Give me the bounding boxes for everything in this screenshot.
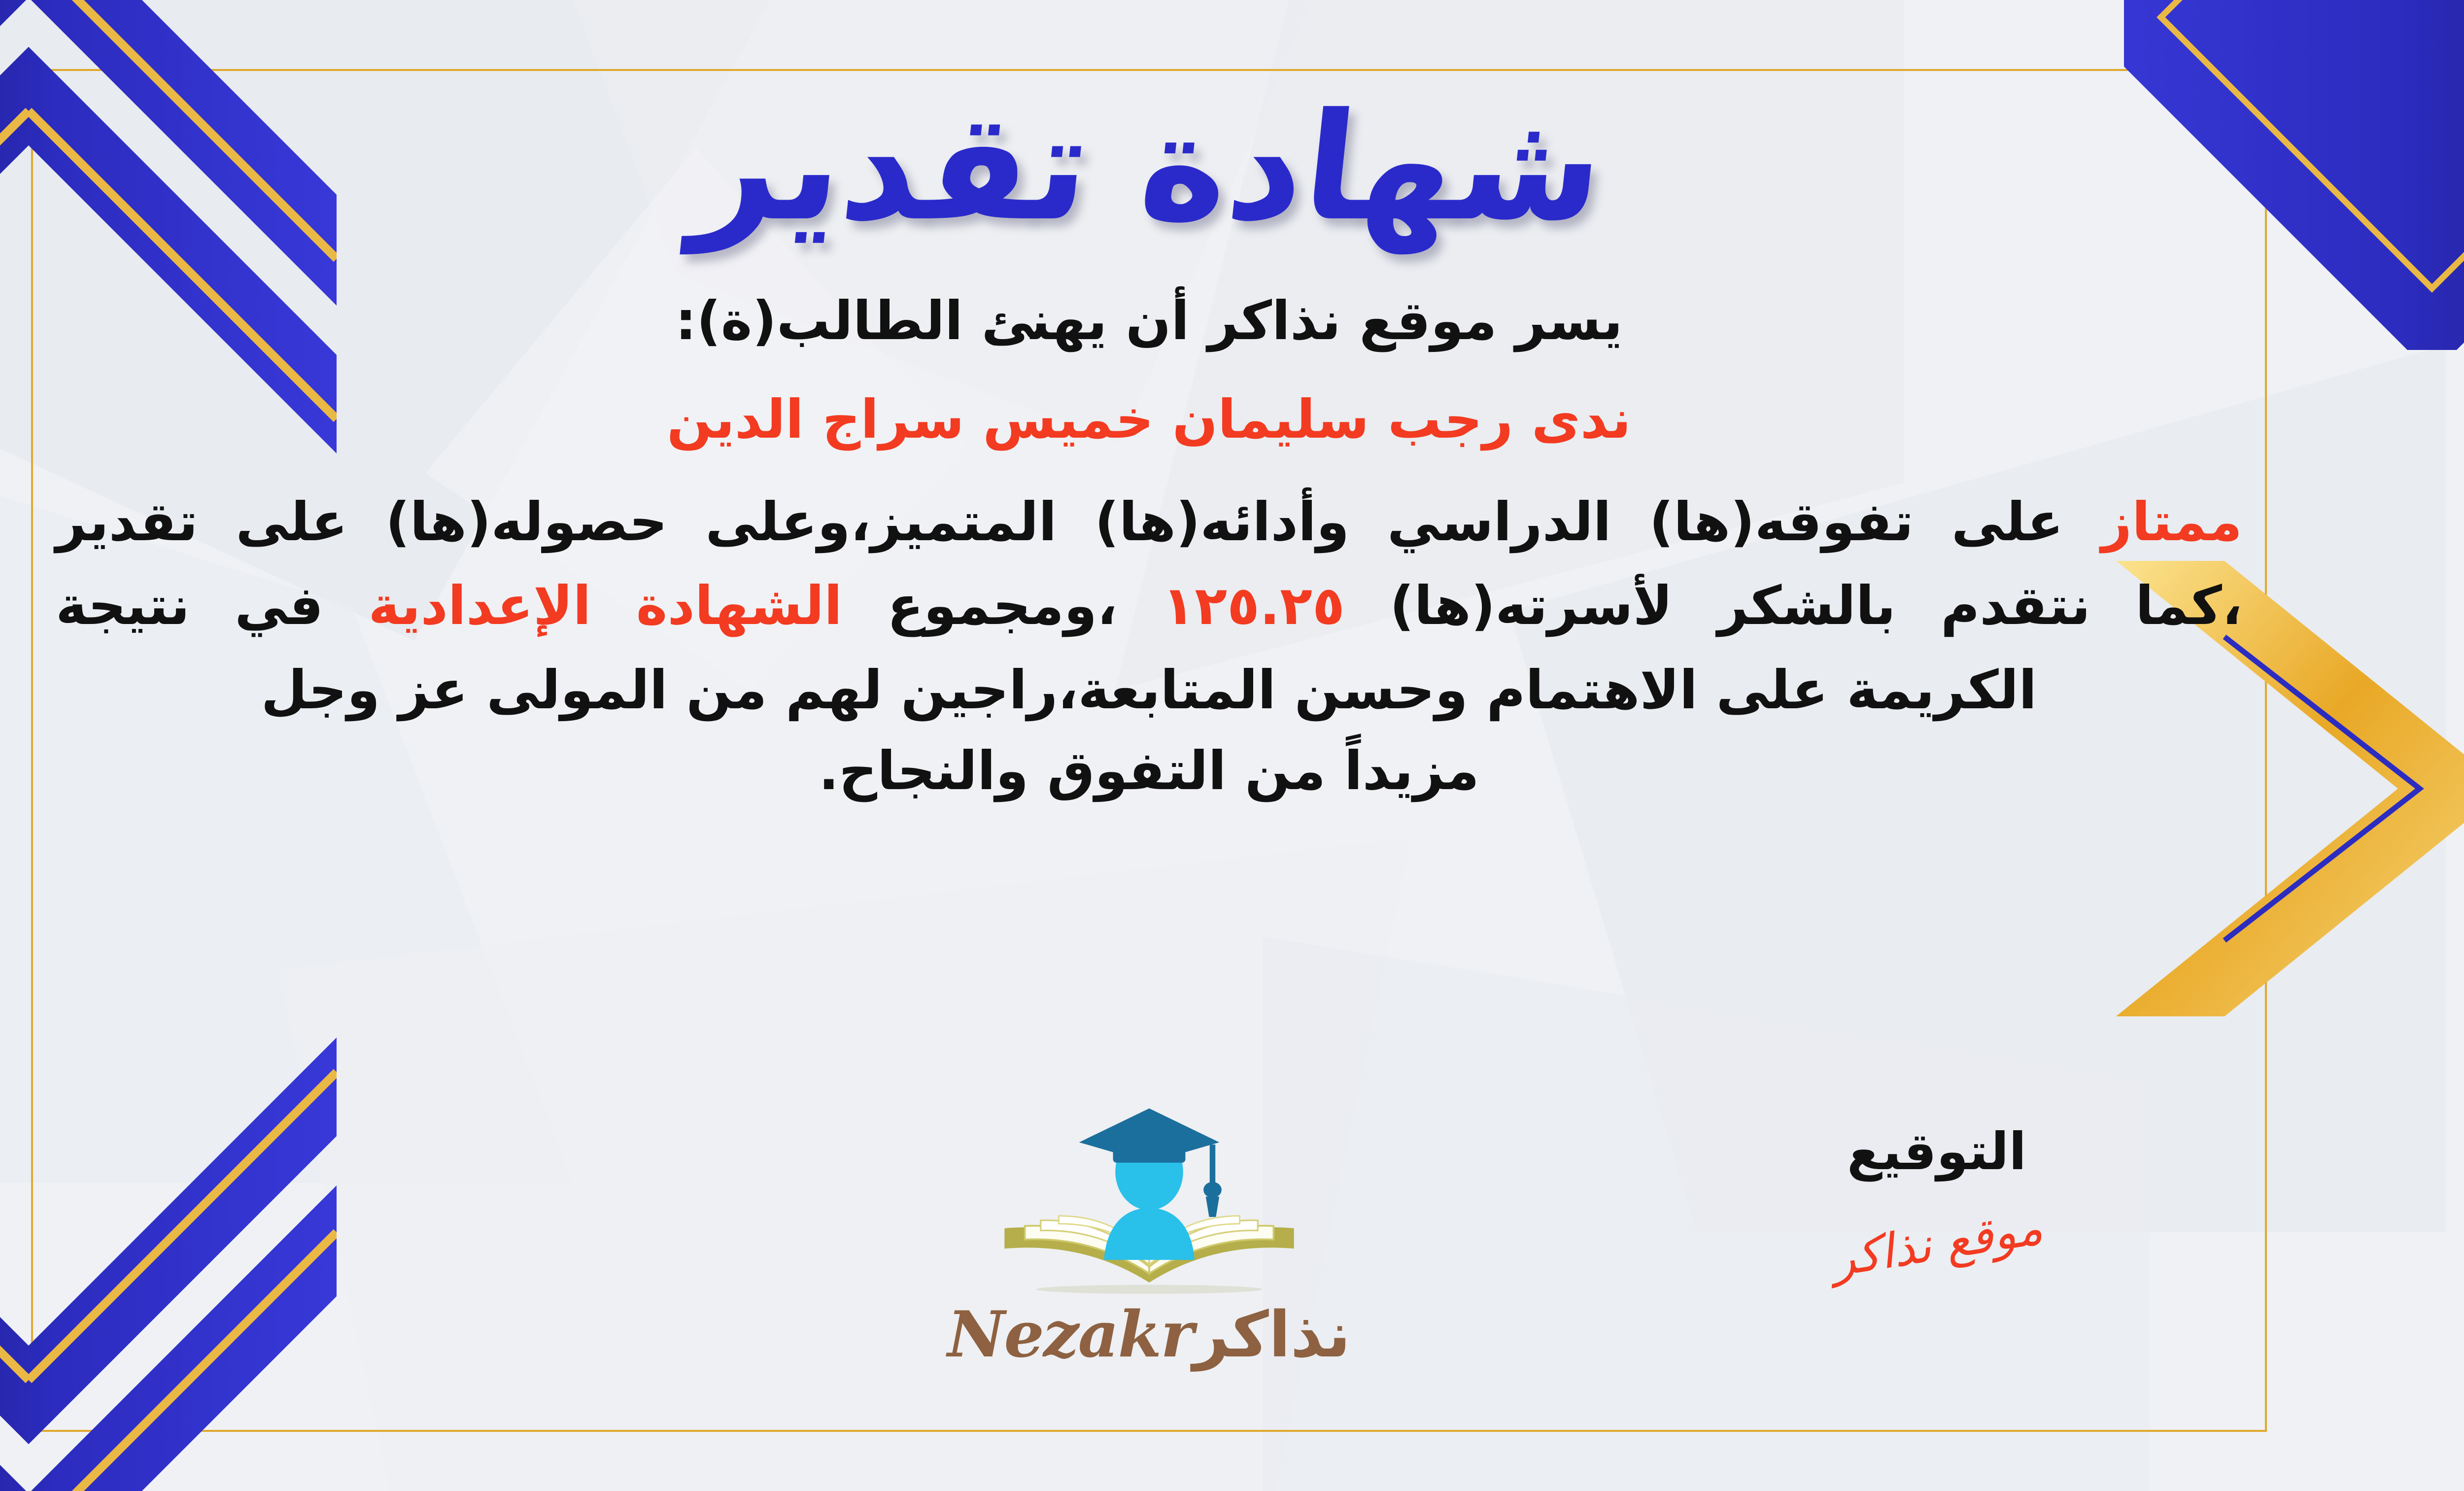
brand-wordmark: نذاكرNezakr xyxy=(947,1298,1350,1372)
intro-line: يسر موقع نذاكر أن يهنئ الطالب(ة): xyxy=(41,281,2257,362)
student-name: ندى رجب سليمان خميس سراج الدين xyxy=(41,380,2257,460)
certificate-canvas: شهادة تقدير يسر موقع نذاكر أن يهنئ الطال… xyxy=(0,0,2464,1491)
result-label: في نتيجة xyxy=(56,575,323,637)
certificate-body: يسر موقع نذاكر أن يهنئ الطالب(ة): ندى رج… xyxy=(41,281,2257,812)
closing-line: مزيداً من التفوق والنجاح. xyxy=(41,731,2257,812)
thanks-text: ،كما نتقدم بالشكر لأسرته(ها) xyxy=(1390,575,2242,637)
result-line: ،كما نتقدم بالشكر لأسرته(ها) ١٢٥.٢٥ ،ومج… xyxy=(41,566,2257,647)
achievement-line: ممتاز على تفوقه(ها) الدراسي وأدائه(ها) ا… xyxy=(41,482,2257,563)
certificate-footer: التوقيع موقع نذاكر xyxy=(41,1102,2257,1407)
total-score: ١٢٥.٢٥ xyxy=(1162,575,1345,637)
grade-value: ممتاز xyxy=(2101,491,2242,553)
family-thanks-line: الكريمة على الاهتمام وحسن المتابعة،راجين… xyxy=(41,650,2257,731)
wordmark-arabic: نذاكر xyxy=(1193,1298,1351,1372)
page-title: شهادة تقدير xyxy=(33,94,2265,242)
brand-logo: نذاكرNezakr xyxy=(41,1102,2257,1372)
certificate-name: الشهادة الإعدادية xyxy=(368,575,842,637)
achievement-text: على تفوقه(ها) الدراسي وأدائه(ها) المتميز… xyxy=(56,491,2063,553)
wordmark-latin: Nezakr xyxy=(947,1298,1193,1372)
graduate-open-book-icon xyxy=(977,1102,1322,1294)
certificate-content: شهادة تقدير يسر موقع نذاكر أن يهنئ الطال… xyxy=(41,74,2257,1427)
total-label: ،ومجموع xyxy=(887,575,1117,637)
